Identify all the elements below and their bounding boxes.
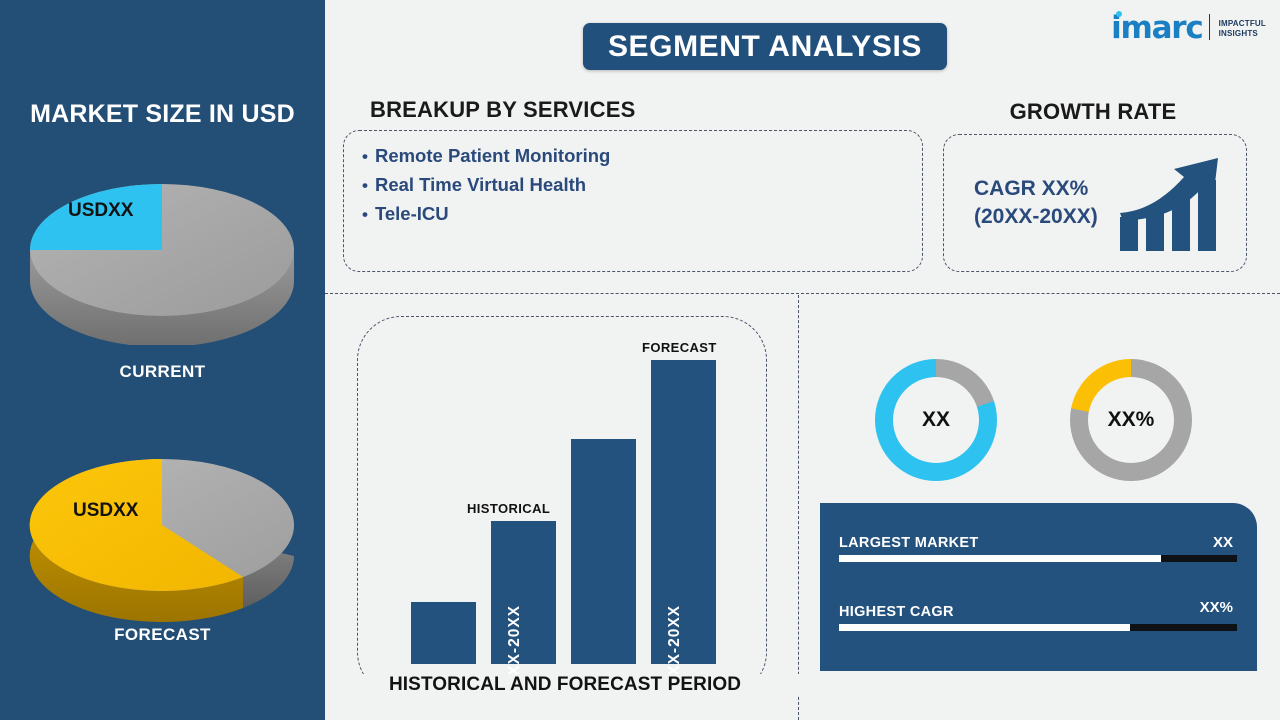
stat-header: LARGEST MARKET XX (839, 529, 1237, 551)
forecast-pie-caption: FORECAST (0, 625, 325, 645)
growth-rate-card: CAGR XX% (20XX-20XX) (943, 134, 1247, 272)
bar-3 (571, 439, 636, 664)
stat-largest-market: LARGEST MARKET XX (839, 529, 1237, 562)
list-item: • Real Time Virtual Health (362, 170, 610, 199)
bar-1 (411, 602, 476, 664)
vertical-divider (798, 295, 799, 720)
growth-arrow-bars-icon (1118, 155, 1228, 256)
logo-tagline-line1: IMPACTFUL (1219, 19, 1266, 29)
donut-volume-value: XX (922, 408, 950, 432)
services-card: • Remote Patient Monitoring • Real Time … (343, 130, 923, 272)
page-title-chip: SEGMENT ANALYSIS (583, 23, 947, 70)
stat-header: HIGHEST CAGR XX% (839, 598, 1237, 620)
stat-progress-track (839, 555, 1237, 562)
stat-progress-fill (839, 555, 1161, 562)
horizontal-divider (325, 293, 1280, 294)
list-item: • Tele-ICU (362, 199, 610, 228)
service-label: Real Time Virtual Health (375, 170, 586, 199)
page-title: SEGMENT ANALYSIS (608, 30, 922, 64)
stat-value: XX% (1200, 599, 1233, 616)
market-size-title: MARKET SIZE IN USD (0, 100, 325, 129)
current-pie-svg (0, 155, 325, 345)
historical-forecast-card: 20XX-20XX 20XX-20XX HISTORICAL FORECAST (357, 316, 767, 696)
stat-label: HIGHEST CAGR (839, 604, 954, 620)
imarc-logo: imarc IMPACTFUL INSIGHTS (1111, 14, 1266, 43)
logo-wordmark: imarc (1111, 14, 1203, 43)
logo-tagline: IMPACTFUL INSIGHTS (1219, 19, 1266, 39)
logo-divider (1209, 14, 1210, 40)
bar-4: 20XX-20XX (651, 360, 716, 664)
logo-tagline-line2: INSIGHTS (1219, 29, 1266, 39)
forecast-annotation: FORECAST (642, 340, 717, 355)
forecast-pie-chart: USDXX (0, 440, 325, 630)
services-list: • Remote Patient Monitoring • Real Time … (362, 141, 610, 228)
service-label: Tele-ICU (375, 199, 449, 228)
forecast-pie-svg (0, 440, 325, 630)
list-item: • Remote Patient Monitoring (362, 141, 610, 170)
current-pie-group: USDXX CURRENT (0, 155, 325, 345)
market-size-panel: MARKET SIZE IN USD (0, 0, 325, 720)
stat-progress-fill (839, 624, 1130, 631)
growth-rate-heading: GROWTH RATE (943, 99, 1243, 125)
current-pie-caption: CURRENT (0, 362, 325, 382)
bar-chart-title: HISTORICAL AND FORECAST PERIOD (325, 674, 805, 696)
services-heading: BREAKUP BY SERVICES (370, 97, 635, 123)
stat-label: LARGEST MARKET (839, 535, 979, 551)
historical-annotation: HISTORICAL (467, 501, 550, 516)
bar-chart: 20XX-20XX 20XX-20XX HISTORICAL FORECAST (358, 317, 768, 697)
stat-highest-cagr: HIGHEST CAGR XX% (839, 598, 1237, 631)
cagr-value: CAGR XX% (974, 175, 1098, 203)
bullet-icon: • (362, 206, 368, 223)
donut-chart-volume: XX (875, 359, 997, 481)
bar-2: 20XX-20XX (491, 521, 556, 664)
donut-chart-cagr: XX% (1070, 359, 1192, 481)
infographic-root: MARKET SIZE IN USD (0, 0, 1280, 720)
market-stats-panel: LARGEST MARKET XX HIGHEST CAGR XX% (820, 503, 1257, 671)
logo-text: imarc (1111, 14, 1203, 43)
cagr-period: (20XX-20XX) (974, 203, 1098, 231)
bullet-icon: • (362, 177, 368, 194)
bullet-icon: • (362, 148, 368, 165)
cagr-text: CAGR XX% (20XX-20XX) (974, 175, 1098, 230)
forecast-pie-group: USDXX FORECAST (0, 440, 325, 630)
stat-progress-track (839, 624, 1237, 631)
current-pie-chart: USDXX (0, 155, 325, 345)
service-label: Remote Patient Monitoring (375, 141, 610, 170)
stat-value: XX (1213, 534, 1233, 551)
donut-cagr-value: XX% (1108, 408, 1155, 432)
